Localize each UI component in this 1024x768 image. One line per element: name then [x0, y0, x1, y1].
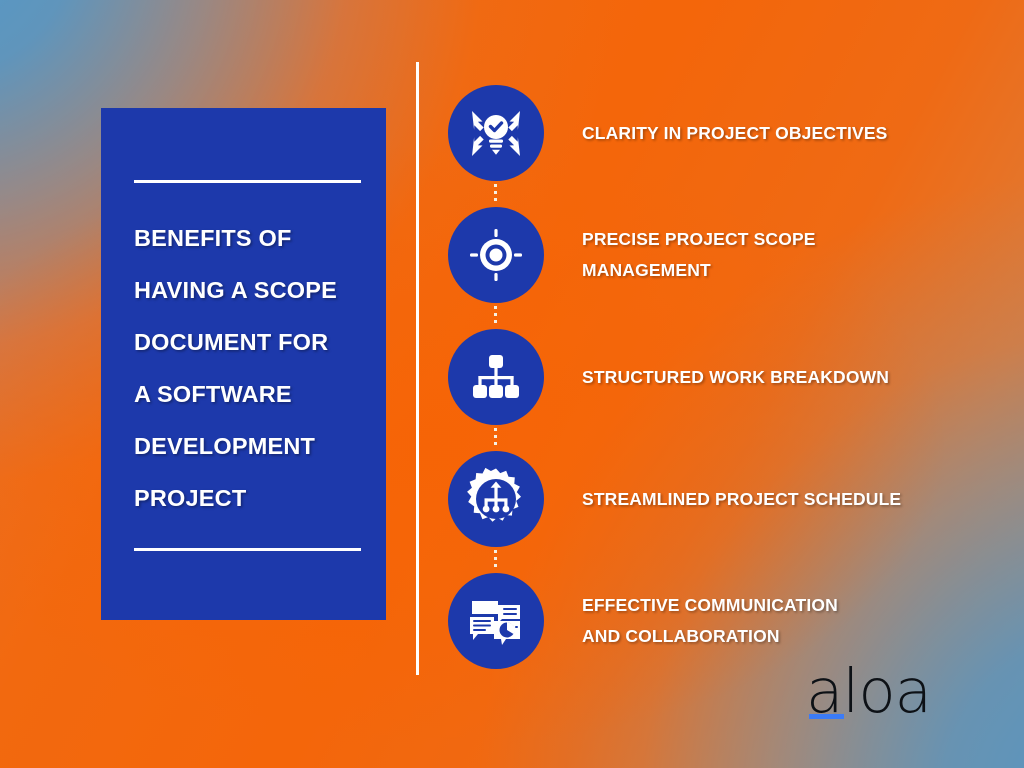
brand-name: aloa — [806, 664, 946, 720]
label-line: STREAMLINED PROJECT SCHEDULE — [582, 484, 901, 515]
title-line: DEVELOPMENT — [134, 420, 366, 472]
vertical-divider — [416, 62, 419, 675]
brand-accent-underline — [809, 714, 844, 719]
dotted-connector — [494, 543, 497, 571]
title-line: DOCUMENT FOR — [134, 316, 366, 368]
title-line: HAVING A SCOPE — [134, 264, 366, 316]
list-item: STRUCTURED WORK BREAKDOWN — [448, 316, 988, 438]
list-item-label: EFFECTIVE COMMUNICATION AND COLLABORATIO… — [582, 590, 838, 652]
list-item: CLARITY IN PROJECT OBJECTIVES — [448, 72, 988, 194]
dotted-connector — [494, 299, 497, 327]
list-item: STREAMLINED PROJECT SCHEDULE — [448, 438, 988, 560]
label-line: STRUCTURED WORK BREAKDOWN — [582, 362, 889, 393]
label-line: PRECISE PROJECT SCOPE — [582, 224, 816, 255]
title-line: PROJECT — [134, 472, 366, 524]
title-rule-bottom — [134, 548, 361, 551]
label-line: CLARITY IN PROJECT OBJECTIVES — [582, 118, 887, 149]
dotted-connector — [494, 177, 497, 205]
list-item-label: PRECISE PROJECT SCOPE MANAGEMENT — [582, 224, 816, 286]
label-line: EFFECTIVE COMMUNICATION — [582, 590, 838, 621]
benefits-list: CLARITY IN PROJECT OBJECTIVES — [448, 72, 988, 682]
gear-workflow-icon — [448, 451, 544, 547]
title-line: A SOFTWARE — [134, 368, 366, 420]
chat-bubbles-chart-icon — [448, 573, 544, 669]
title-line: BENEFITS OF — [134, 212, 366, 264]
slide-canvas: BENEFITS OF HAVING A SCOPE DOCUMENT FOR … — [0, 0, 1024, 768]
dotted-connector — [494, 421, 497, 449]
list-item-label: CLARITY IN PROJECT OBJECTIVES — [582, 118, 887, 149]
lightbulb-target-arrows-icon — [448, 85, 544, 181]
list-item-label: STREAMLINED PROJECT SCHEDULE — [582, 484, 901, 515]
label-line: AND COLLABORATION — [582, 621, 838, 652]
list-item: PRECISE PROJECT SCOPE MANAGEMENT — [448, 194, 988, 316]
title-card: BENEFITS OF HAVING A SCOPE DOCUMENT FOR … — [101, 108, 386, 620]
title-rule-top — [134, 180, 361, 183]
crosshair-target-icon — [448, 207, 544, 303]
brand-logo: aloa — [806, 664, 946, 728]
label-line: MANAGEMENT — [582, 255, 816, 286]
hierarchy-breakdown-icon — [448, 329, 544, 425]
list-item-label: STRUCTURED WORK BREAKDOWN — [582, 362, 889, 393]
page-title: BENEFITS OF HAVING A SCOPE DOCUMENT FOR … — [134, 212, 366, 524]
